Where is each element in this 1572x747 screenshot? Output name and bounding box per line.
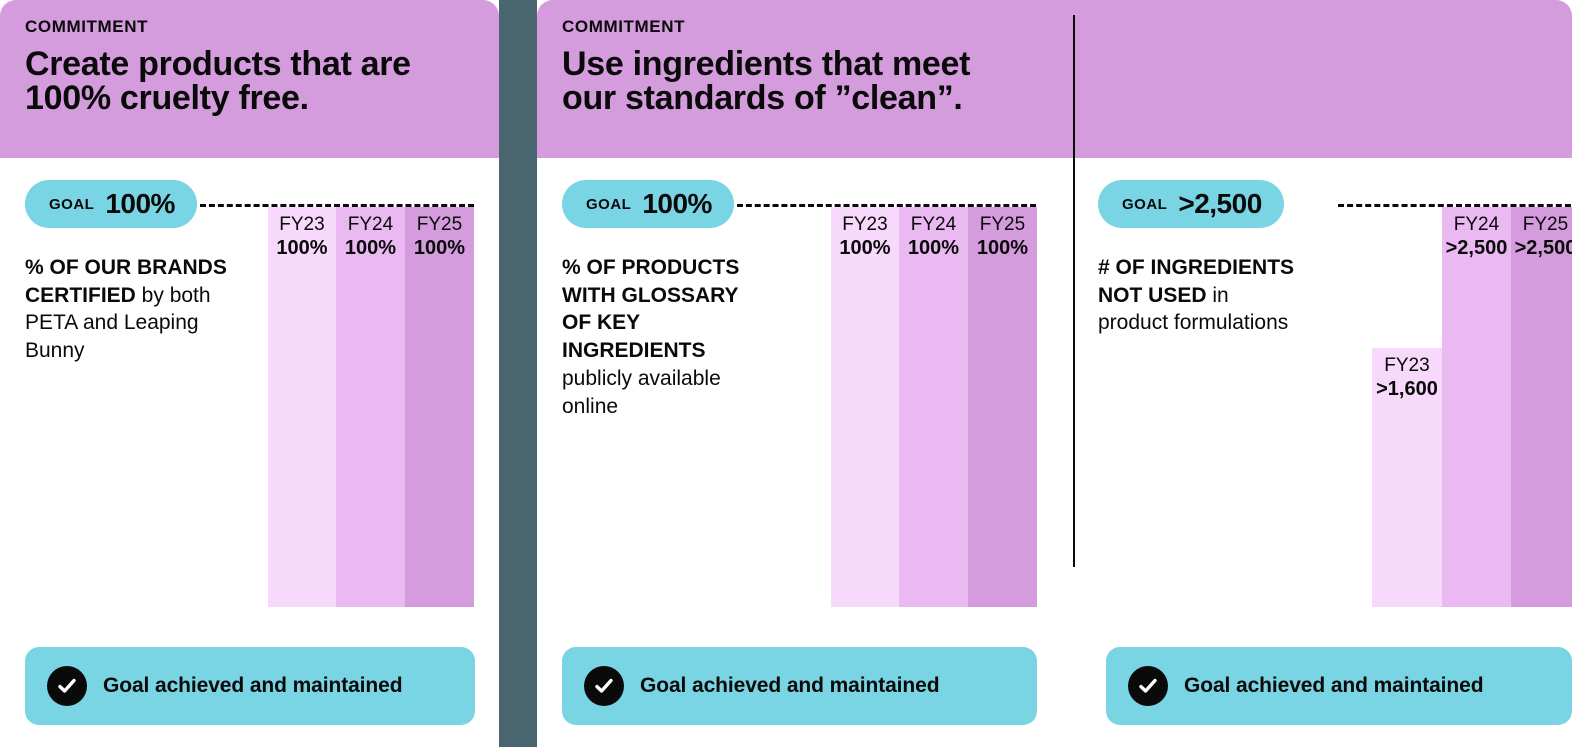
bar-year-label: FY23 bbox=[1384, 355, 1429, 377]
goal-threshold-line bbox=[200, 204, 474, 207]
bar-year-label: FY24 bbox=[911, 214, 956, 236]
bar-value-label: 100% bbox=[839, 236, 890, 260]
bar-year-label: FY23 bbox=[842, 214, 887, 236]
goal-label: GOAL bbox=[49, 196, 94, 213]
bar-chart: FY23 >1,600 FY24 >2,500 FY25 >2,500 bbox=[1372, 207, 1572, 607]
bar-fy25: FY25 100% bbox=[968, 207, 1037, 607]
metric-description-emphasis: # OF INGREDIENTS NOT USED bbox=[1098, 256, 1294, 307]
status-label: Goal achieved and maintained bbox=[1184, 674, 1483, 698]
commitment-title: Use ingredients that meet our standards … bbox=[562, 47, 1572, 115]
commitment-kicker: COMMITMENT bbox=[25, 18, 499, 37]
bar-year-label: FY25 bbox=[980, 214, 1025, 236]
metric-ingredient-glossary: GOAL 100% % OF PRODUCTS WITH GLOSSARY OF… bbox=[537, 158, 1073, 747]
bar-value-label: >1,600 bbox=[1376, 377, 1438, 401]
goal-value: >2,500 bbox=[1178, 188, 1261, 220]
check-circle-icon bbox=[47, 666, 87, 706]
goal-label: GOAL bbox=[1122, 196, 1167, 213]
goal-threshold-line bbox=[1338, 204, 1572, 207]
bar-fy24: FY24 >2,500 bbox=[1442, 207, 1511, 607]
metric-description: # OF INGREDIENTS NOT USED in product for… bbox=[1098, 254, 1303, 337]
card-header: COMMITMENT Create products that are 100%… bbox=[0, 0, 499, 158]
goal-badge: GOAL >2,500 bbox=[1098, 180, 1284, 228]
commitment-title: Create products that are 100% cruelty fr… bbox=[25, 47, 499, 115]
bar-value-label: 100% bbox=[908, 236, 959, 260]
goal-value: 100% bbox=[105, 188, 175, 220]
bar-fy23: FY23 100% bbox=[831, 207, 899, 607]
goal-threshold-line bbox=[737, 204, 1036, 207]
goal-badge: GOAL 100% bbox=[25, 180, 197, 228]
bar-fy25: FY25 100% bbox=[405, 207, 474, 607]
check-circle-icon bbox=[584, 666, 624, 706]
bar-fy24: FY24 100% bbox=[899, 207, 968, 607]
card-header: COMMITMENT Use ingredients that meet our… bbox=[537, 0, 1572, 158]
commitment-card-cruelty-free: COMMITMENT Create products that are 100%… bbox=[0, 0, 499, 747]
bar-fy23: FY23 100% bbox=[268, 207, 336, 607]
bar-value-label: 100% bbox=[345, 236, 396, 260]
status-badge: Goal achieved and maintained bbox=[562, 647, 1037, 725]
status-badge: Goal achieved and maintained bbox=[25, 647, 475, 725]
bar-fy23: FY23 >1,600 bbox=[1372, 348, 1442, 607]
bar-year-label: FY23 bbox=[279, 214, 324, 236]
metric-description: % OF PRODUCTS WITH GLOSSARY OF KEY INGRE… bbox=[562, 254, 767, 420]
goal-badge: GOAL 100% bbox=[562, 180, 734, 228]
metric-description: % OF OUR BRANDS CERTIFIED by both PETA a… bbox=[25, 254, 230, 365]
goal-label: GOAL bbox=[586, 196, 631, 213]
card-gutter-band bbox=[499, 0, 537, 747]
bar-fy24: FY24 100% bbox=[336, 207, 405, 607]
metric-brands-certified: GOAL 100% % OF OUR BRANDS CERTIFIED by b… bbox=[0, 158, 499, 747]
bar-value-label: >2,500 bbox=[1515, 236, 1572, 260]
goal-value: 100% bbox=[642, 188, 712, 220]
bar-value-label: 100% bbox=[276, 236, 327, 260]
bar-value-label: >2,500 bbox=[1446, 236, 1508, 260]
bar-chart: FY23 100% FY24 100% FY25 100% bbox=[268, 207, 474, 607]
status-label: Goal achieved and maintained bbox=[103, 674, 402, 698]
bar-year-label: FY25 bbox=[417, 214, 462, 236]
metric-description-emphasis: % OF PRODUCTS WITH GLOSSARY OF KEY INGRE… bbox=[562, 256, 739, 362]
metric-ingredients-not-used: GOAL >2,500 # OF INGREDIENTS NOT USED in… bbox=[1073, 158, 1572, 747]
bar-fy25: FY25 >2,500 bbox=[1511, 207, 1572, 607]
commitment-card-clean-ingredients: COMMITMENT Use ingredients that meet our… bbox=[537, 0, 1572, 747]
bar-year-label: FY25 bbox=[1523, 214, 1568, 236]
status-label: Goal achieved and maintained bbox=[640, 674, 939, 698]
commitment-kicker: COMMITMENT bbox=[562, 18, 1572, 37]
status-badge: Goal achieved and maintained bbox=[1106, 647, 1572, 725]
bar-value-label: 100% bbox=[414, 236, 465, 260]
bar-value-label: 100% bbox=[977, 236, 1028, 260]
bar-year-label: FY24 bbox=[1454, 214, 1499, 236]
bar-chart: FY23 100% FY24 100% FY25 100% bbox=[831, 207, 1037, 607]
metric-description-detail: publicly available online bbox=[562, 367, 721, 418]
check-circle-icon bbox=[1128, 666, 1168, 706]
bar-year-label: FY24 bbox=[348, 214, 393, 236]
